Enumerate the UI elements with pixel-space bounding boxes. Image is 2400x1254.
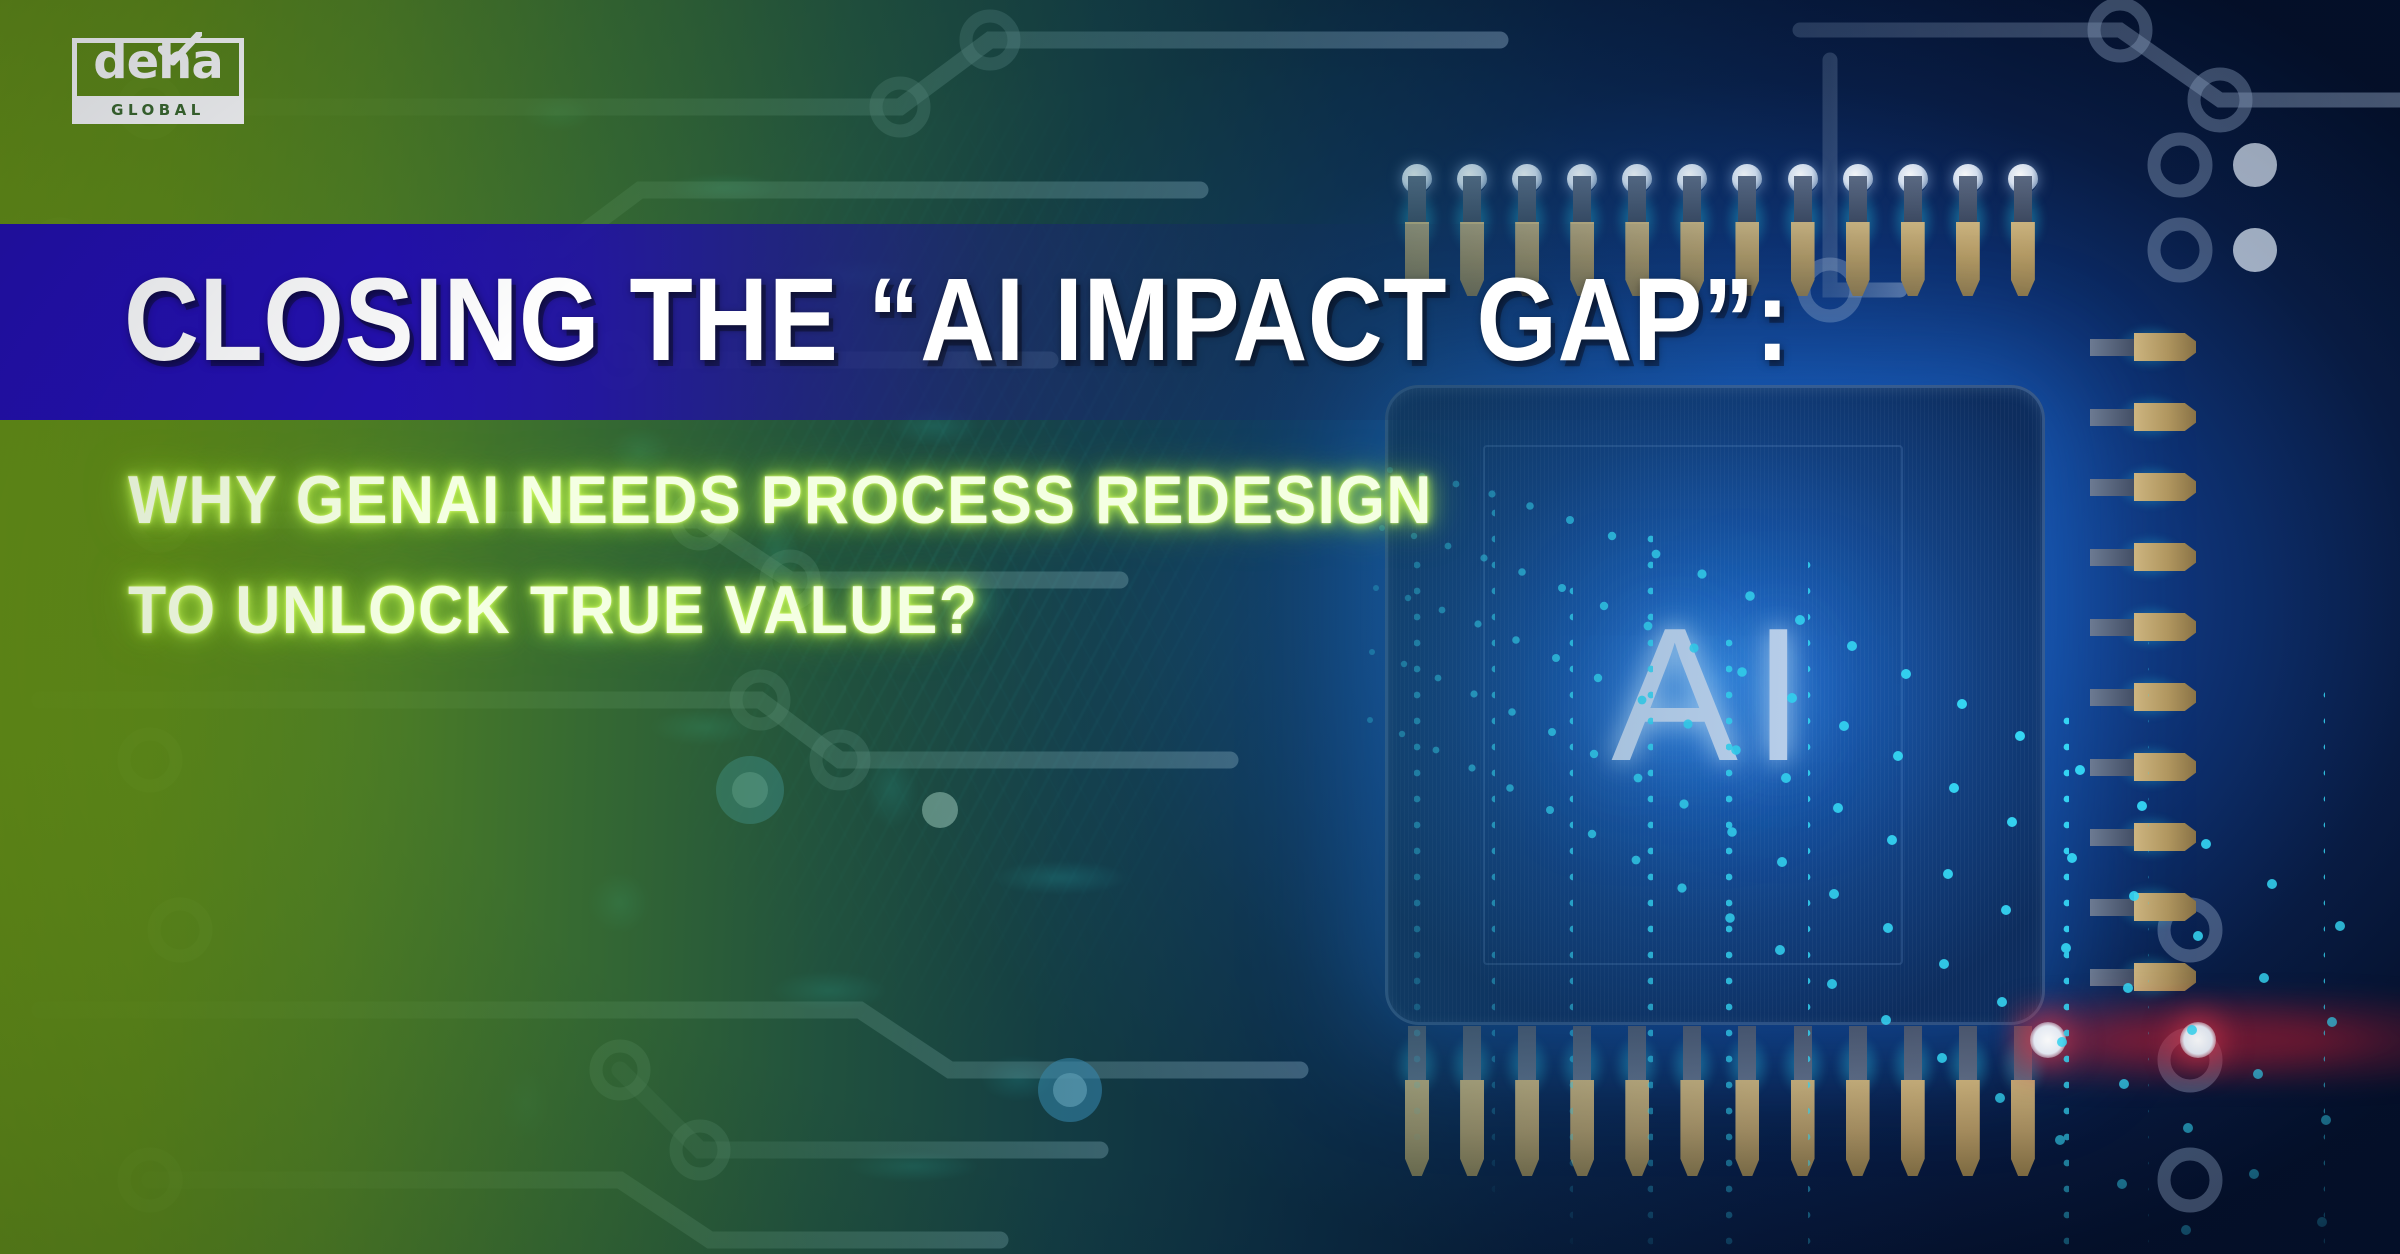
check-icon	[158, 32, 202, 66]
ai-impact-gap-banner: AI	[0, 0, 2400, 1254]
page-title: CLOSING THE “AI IMPACT GAP”:	[124, 258, 1790, 383]
logo-tagline-band: GLOBAL	[72, 96, 244, 124]
subtitle-line-1: WHY GENAI NEEDS PROCESS REDESIGN	[128, 466, 1433, 534]
brand-logo[interactable]: deha GLOBAL	[72, 38, 244, 124]
logo-tagline: GLOBAL	[111, 101, 205, 119]
subtitle-line-2: TO UNLOCK TRUE VALUE?	[128, 576, 978, 644]
